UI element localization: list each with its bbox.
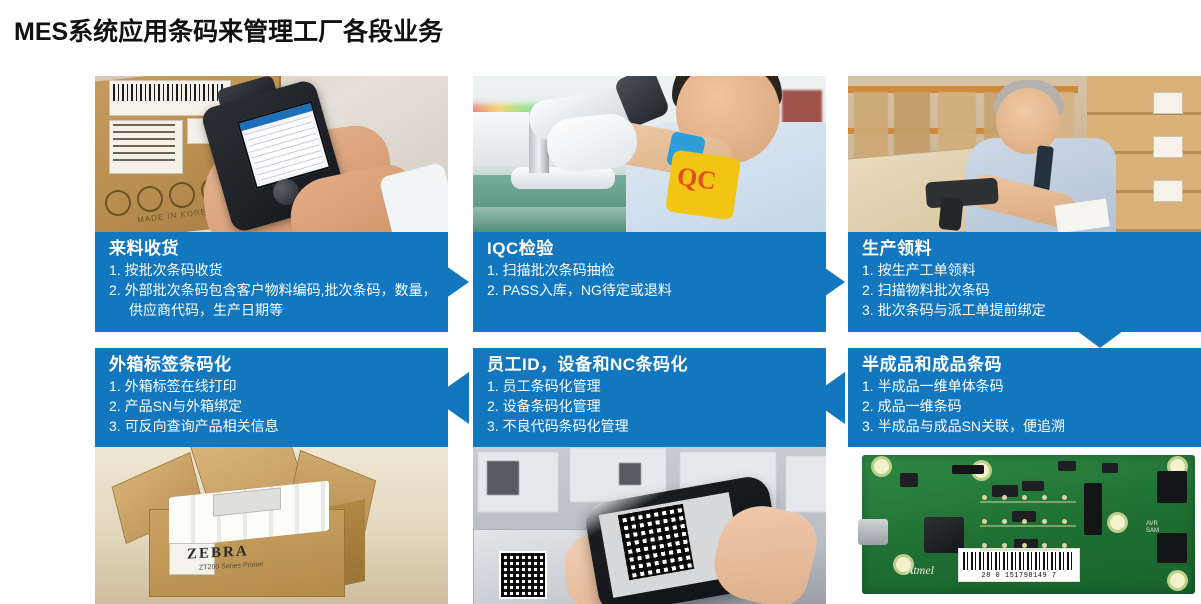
step-item: 2. 设备条码化管理 xyxy=(487,396,818,416)
step-box-production-picking[interactable]: 生产领料 1. 按生产工单领料 2. 扫描物料批次条码 3. 批次条码与派工单提… xyxy=(848,232,1201,332)
equipment-qr-code xyxy=(499,551,547,599)
step-item: 2. PASS入库，NG待定或退料 xyxy=(487,280,818,300)
scanned-qr-code xyxy=(618,504,694,580)
step-item-list: 1. 扫描批次条码抽检 2. PASS入库，NG待定或退料 xyxy=(487,260,818,300)
photo-incoming-receiving: MADE IN KOREA xyxy=(95,76,448,233)
zebra-logo: ZEBRA xyxy=(187,543,249,563)
step-box-carton-label-barcode[interactable]: 外箱标签条码化 1. 外箱标签在线打印 2. 产品SN与外箱绑定 3. 可反向查… xyxy=(95,348,448,448)
pcb-silkscreen-text: AVRSAM xyxy=(1146,521,1159,535)
photo-production-picking xyxy=(848,76,1201,233)
step-item: 3. 批次条码与派工单提前绑定 xyxy=(862,300,1193,320)
arrow-wipfg-to-employee xyxy=(808,372,845,424)
step-item: 2. 成品一维条码 xyxy=(862,396,1193,416)
step-title: 来料收货 xyxy=(109,238,440,259)
barcode-stripes xyxy=(963,552,1075,570)
page-title: MES系统应用条码来管理工厂各段业务 xyxy=(14,12,443,48)
step-item-list: 1. 按批次条码收货 2. 外部批次条码包含客户物料编码,批次条码，数量，供应商… xyxy=(109,260,440,320)
step-item: 2. 扫描物料批次条码 xyxy=(862,280,1193,300)
step-title: 半成品和成品条码 xyxy=(862,354,1193,375)
machine-panel xyxy=(619,463,641,485)
box-label xyxy=(1153,180,1183,202)
step-item: 1. 扫描批次条码抽检 xyxy=(487,260,818,280)
step-title: 生产领料 xyxy=(862,238,1193,259)
arrow-employee-to-carton xyxy=(432,372,469,424)
step-item: 1. 按生产工单领料 xyxy=(862,260,1193,280)
step-item: 3. 可反向查询产品相关信息 xyxy=(109,416,440,436)
step-item: 1. 员工条码化管理 xyxy=(487,376,818,396)
step-item: 1. 按批次条码收货 xyxy=(109,260,440,280)
step-item-list: 1. 按生产工单领料 2. 扫描物料批次条码 3. 批次条码与派工单提前绑定 xyxy=(862,260,1193,320)
handling-symbol-icon xyxy=(105,190,131,216)
arrow-iqc-to-picking xyxy=(808,256,845,308)
photo-employee-equipment-nc-barcode xyxy=(473,447,826,604)
barcode-number: 28 0 151798149 7 xyxy=(959,572,1079,580)
step-item: 3. 半成品与成品SN关联，便追溯 xyxy=(862,416,1193,436)
step-item: 1. 半成品一维单体条码 xyxy=(862,376,1193,396)
label-text-lines xyxy=(113,124,175,166)
step-item: 2. 外部批次条码包含客户物料编码,批次条码，数量，供应商代码，生产日期等 xyxy=(109,280,440,320)
usb-connector xyxy=(858,519,888,545)
atmel-logo: Atmel xyxy=(906,563,934,578)
step-item-list: 1. 外箱标签在线打印 2. 产品SN与外箱绑定 3. 可反向查询产品相关信息 xyxy=(109,376,440,436)
fragile-symbol-icon xyxy=(137,186,163,212)
scanner-grip xyxy=(938,197,963,231)
box-label xyxy=(1153,136,1183,158)
step-box-incoming-receiving[interactable]: 来料收货 1. 按批次条码收货 2. 外部批次条码包含客户物料编码,批次条码，数… xyxy=(95,232,448,332)
worker-head xyxy=(996,88,1060,154)
step-item-list: 1. 半成品一维单体条码 2. 成品一维条码 3. 半成品与成品SN关联，便追溯 xyxy=(862,376,1193,436)
step-item: 1. 外箱标签在线打印 xyxy=(109,376,440,396)
step-title: 外箱标签条码化 xyxy=(109,354,440,375)
photo-carton-label-barcode: ZEBRA ZT200 Series Printer xyxy=(95,447,448,604)
arrow-receiving-to-iqc xyxy=(432,256,469,308)
step-title: IQC检验 xyxy=(487,238,818,259)
step-box-iqc-inspection[interactable]: IQC检验 1. 扫描批次条码抽检 2. PASS入库，NG待定或退料 xyxy=(473,232,826,332)
photo-iqc-inspection: QC xyxy=(473,76,826,233)
box-label xyxy=(1153,92,1183,114)
arrow-picking-to-wipfg xyxy=(1065,322,1135,348)
photo-wip-fg-barcode: AVRSAM Atmel 28 0 151798149 7 xyxy=(848,447,1201,604)
factory-machine xyxy=(785,455,826,513)
step-box-employee-equipment-nc-barcode[interactable]: 员工ID，设备和NC条码化 1. 员工条码化管理 2. 设备条码化管理 3. 不… xyxy=(473,348,826,448)
pcb-barcode-label: 28 0 151798149 7 xyxy=(958,548,1080,582)
recycle-symbol-icon xyxy=(169,182,195,208)
step-item: 3. 不良代码条码化管理 xyxy=(487,416,818,436)
pcb-board: AVRSAM Atmel 28 0 151798149 7 xyxy=(862,455,1195,594)
step-title: 员工ID，设备和NC条码化 xyxy=(487,354,818,375)
barcode-stripes xyxy=(113,84,223,101)
step-item: 2. 产品SN与外箱绑定 xyxy=(109,396,440,416)
step-item-list: 1. 员工条码化管理 2. 设备条码化管理 3. 不良代码条码化管理 xyxy=(487,376,818,436)
qc-armband-text: QC xyxy=(675,161,718,196)
machine-panel xyxy=(487,461,519,495)
step-box-wip-fg-barcode[interactable]: 半成品和成品条码 1. 半成品一维单体条码 2. 成品一维条码 3. 半成品与成… xyxy=(848,348,1201,448)
